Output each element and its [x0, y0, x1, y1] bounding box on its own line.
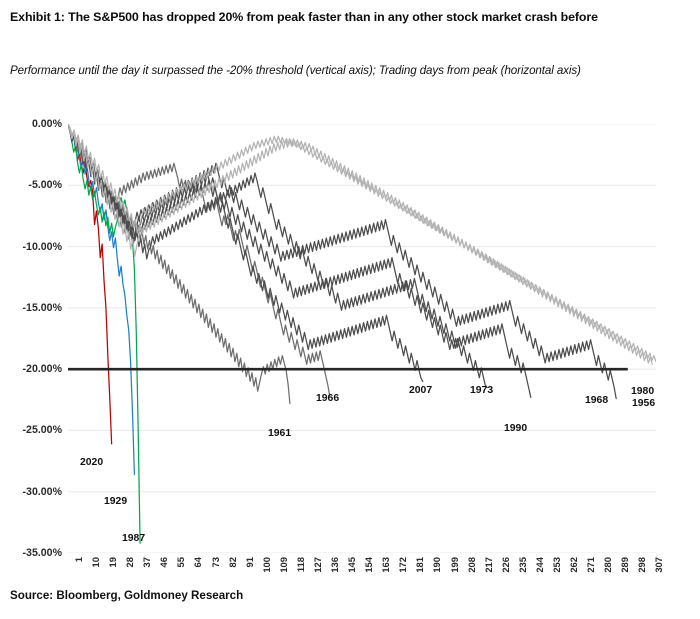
x-axis-tick-label: 46 — [158, 557, 169, 567]
x-axis-tick-label: 298 — [636, 557, 647, 573]
y-axis-tick-label: -35.00% — [23, 547, 62, 559]
x-axis-tick-label: 199 — [449, 557, 460, 573]
x-axis-tick-label: 217 — [483, 557, 494, 573]
series-label-1966: 1966 — [316, 393, 339, 404]
x-axis-tick-label: 307 — [653, 557, 664, 573]
x-axis-tick-label: 19 — [107, 557, 118, 567]
x-axis-tick-label: 100 — [261, 557, 272, 573]
x-axis-tick-label: 181 — [414, 557, 425, 573]
series-line — [68, 124, 616, 399]
x-axis-tick-label: 289 — [619, 557, 630, 573]
x-axis-tick-label: 235 — [517, 557, 528, 573]
chart-container: 0.00%-5.00%-10.00%-15.00%-20.00%-25.00%-… — [0, 110, 700, 575]
x-axis-tick-label: 280 — [602, 557, 613, 573]
series-line — [68, 124, 487, 388]
y-axis-labels: 0.00%-5.00%-10.00%-15.00%-20.00%-25.00%-… — [0, 124, 62, 553]
x-axis-tick-label: 163 — [380, 557, 391, 573]
chart-subtitle: Performance until the day it surpassed t… — [10, 62, 660, 80]
y-axis-tick-label: -15.00% — [23, 302, 62, 314]
series-line — [68, 124, 423, 381]
series-label-2007: 2007 — [409, 385, 432, 396]
series-label-1973: 1973 — [470, 385, 493, 396]
y-axis-tick-label: -20.00% — [23, 363, 62, 375]
x-axis-tick-label: 28 — [124, 557, 135, 567]
x-axis-tick-label: 64 — [192, 557, 203, 567]
series-line — [68, 124, 656, 362]
series-label-1929: 1929 — [104, 496, 127, 507]
x-axis-tick-label: 208 — [466, 557, 477, 573]
x-axis-labels: 1101928374655647382911001091181271361451… — [68, 557, 656, 617]
chart-page: Exhibit 1: The S&P500 has dropped 20% fr… — [0, 0, 700, 619]
plot-area — [68, 124, 656, 553]
source-note: Source: Bloomberg, Goldmoney Research — [10, 589, 243, 602]
y-axis-tick-label: -5.00% — [28, 179, 62, 191]
x-axis-tick-label: 127 — [312, 557, 323, 573]
y-axis-tick-label: -10.00% — [23, 241, 62, 253]
x-axis-tick-label: 145 — [346, 557, 357, 573]
x-axis-tick-label: 190 — [431, 557, 442, 573]
x-axis-tick-label: 10 — [90, 557, 101, 567]
x-axis-tick-label: 244 — [534, 557, 545, 573]
x-axis-tick-label: 82 — [227, 557, 238, 567]
x-axis-tick-label: 109 — [278, 557, 289, 573]
series-line — [68, 124, 652, 364]
y-axis-tick-label: -25.00% — [23, 424, 62, 436]
series-label-2020: 2020 — [80, 457, 103, 468]
series-label-1990: 1990 — [504, 423, 527, 434]
y-axis-tick-label: -30.00% — [23, 486, 62, 498]
series-label-1980: 1980 — [631, 386, 654, 397]
x-axis-tick-label: 73 — [210, 557, 221, 567]
line-chart-svg — [68, 124, 656, 553]
x-axis-tick-label: 226 — [500, 557, 511, 573]
x-axis-tick-label: 262 — [568, 557, 579, 573]
x-axis-tick-label: 271 — [585, 557, 596, 573]
x-axis-tick-label: 1 — [73, 557, 84, 562]
series-label-1968: 1968 — [585, 395, 608, 406]
x-axis-tick-label: 37 — [141, 557, 152, 567]
series-line — [68, 124, 531, 397]
x-axis-tick-label: 91 — [244, 557, 255, 567]
x-axis-tick-label: 136 — [329, 557, 340, 573]
series-label-1987: 1987 — [122, 533, 145, 544]
x-axis-tick-label: 253 — [551, 557, 562, 573]
x-axis-tick-label: 118 — [295, 557, 306, 572]
x-axis-tick-label: 172 — [397, 557, 408, 573]
y-axis-tick-label: 0.00% — [32, 118, 62, 130]
series-line — [68, 124, 290, 403]
series-label-1956: 1956 — [632, 398, 655, 409]
series-label-1961: 1961 — [268, 428, 291, 439]
x-axis-tick-label: 55 — [175, 557, 186, 567]
x-axis-tick-label: 154 — [363, 557, 374, 573]
page-title: Exhibit 1: The S&P500 has dropped 20% fr… — [10, 8, 682, 26]
